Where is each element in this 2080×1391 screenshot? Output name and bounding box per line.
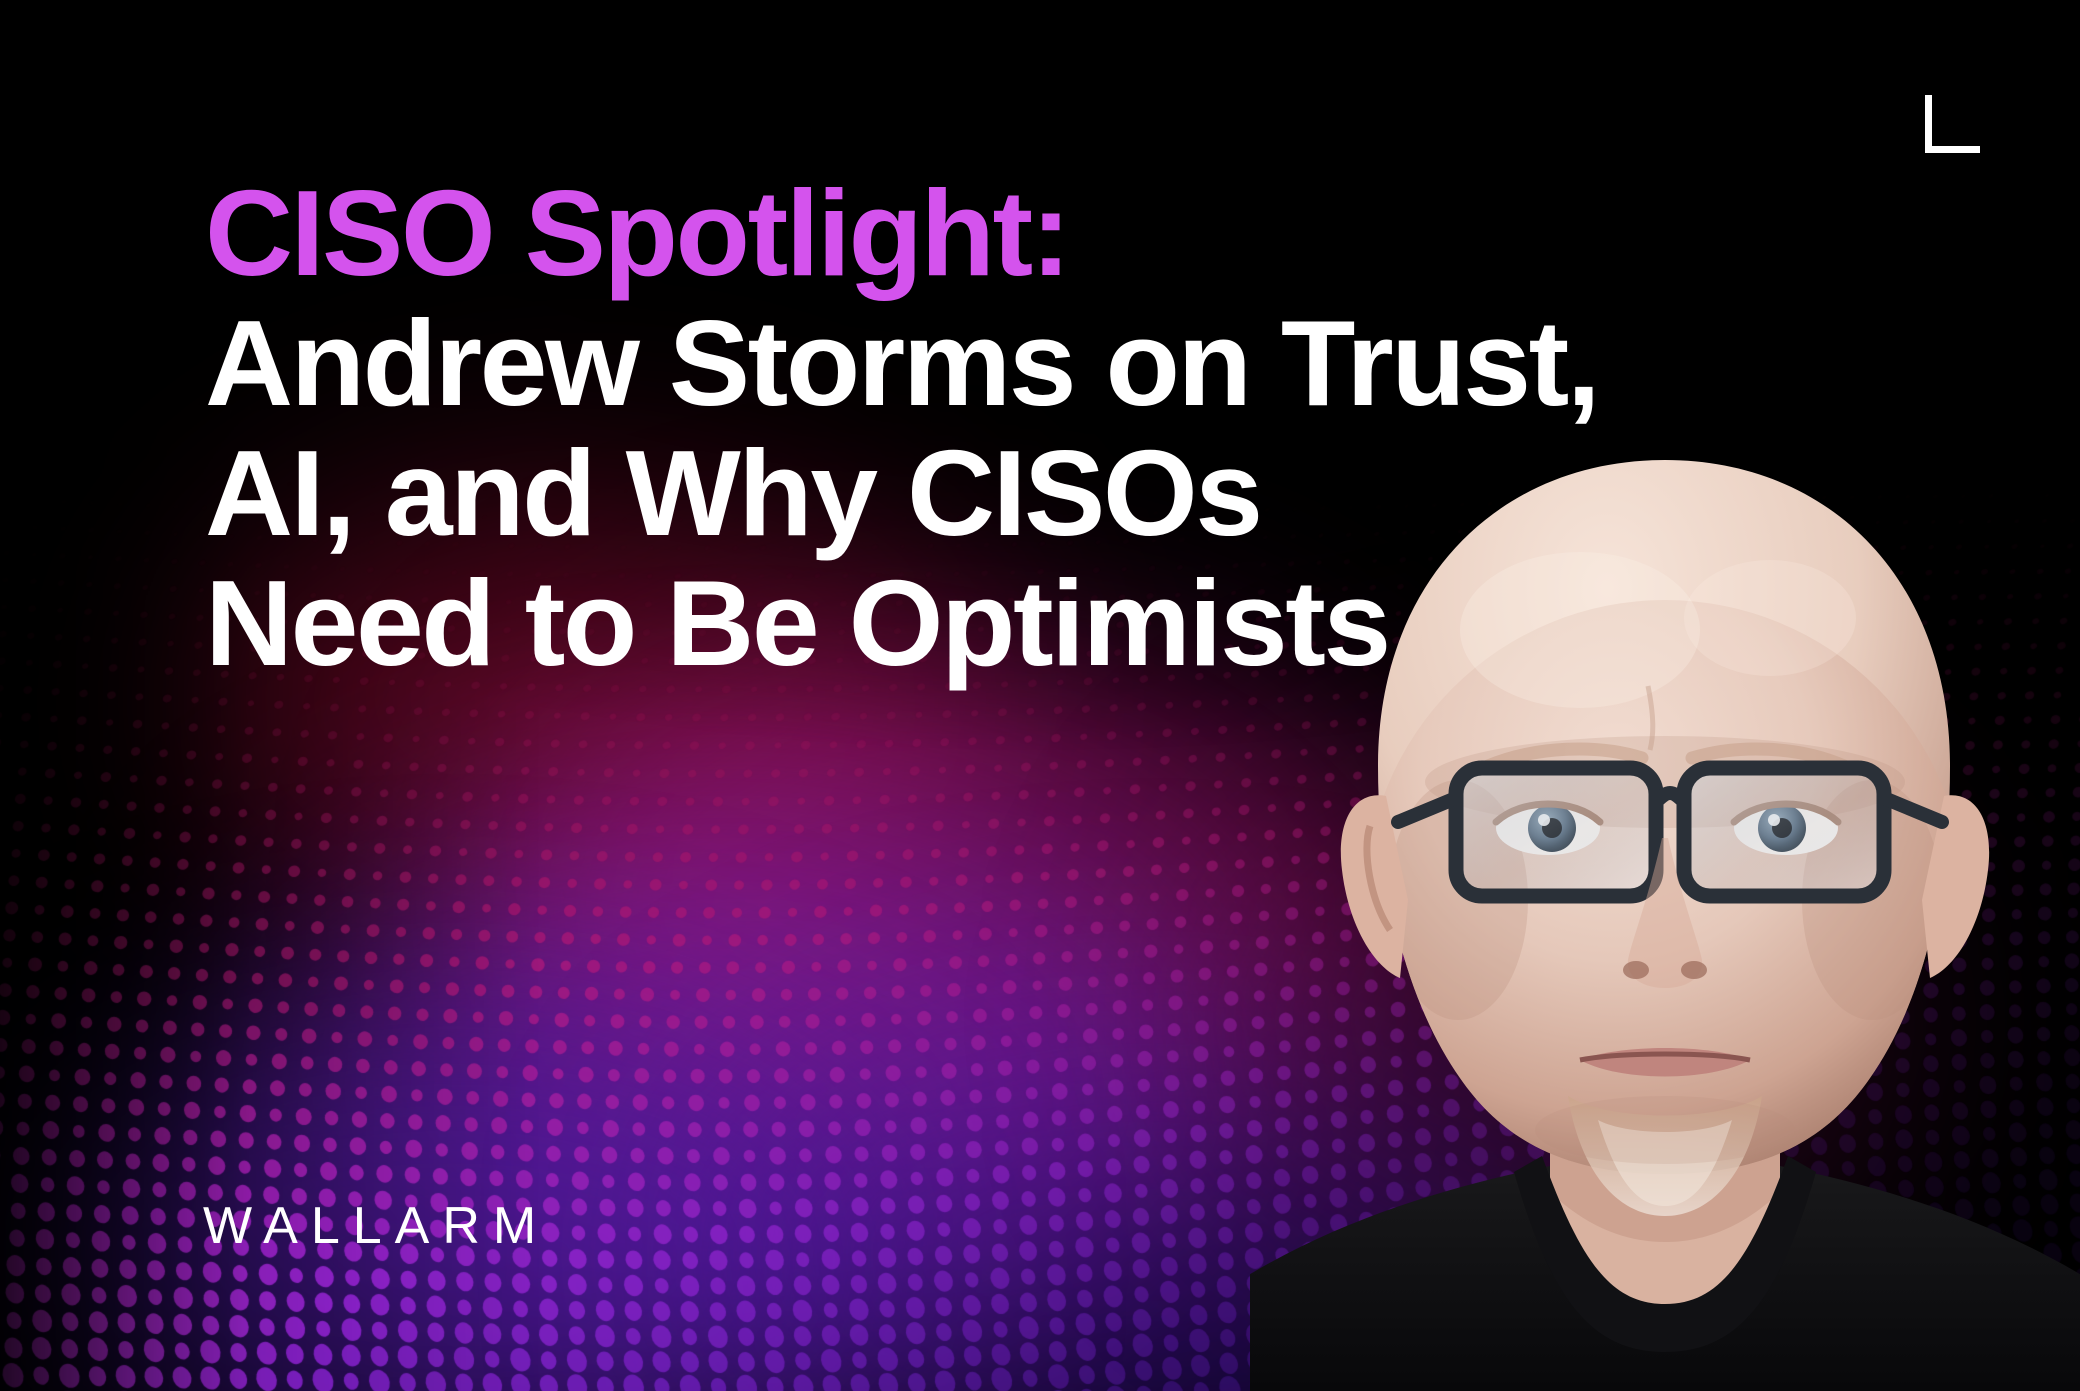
- corner-bracket-icon: [1925, 95, 1985, 157]
- headline-line-3: Need to Be Optimists: [205, 558, 1545, 688]
- headline-line-1: Andrew Storms on Trust,: [205, 298, 1545, 428]
- headline-block: CISO Spotlight: Andrew Storms on Trust, …: [205, 168, 1545, 688]
- corner-bracket-horizontal: [1925, 146, 1980, 153]
- headline-line-2: AI, and Why CISOs: [205, 428, 1545, 558]
- promo-card: CISO Spotlight: Andrew Storms on Trust, …: [0, 0, 2080, 1391]
- corner-bracket-vertical: [1925, 95, 1932, 153]
- wallarm-logo-wordmark: WALLARM: [203, 1196, 549, 1256]
- headline-kicker: CISO Spotlight:: [205, 168, 1545, 298]
